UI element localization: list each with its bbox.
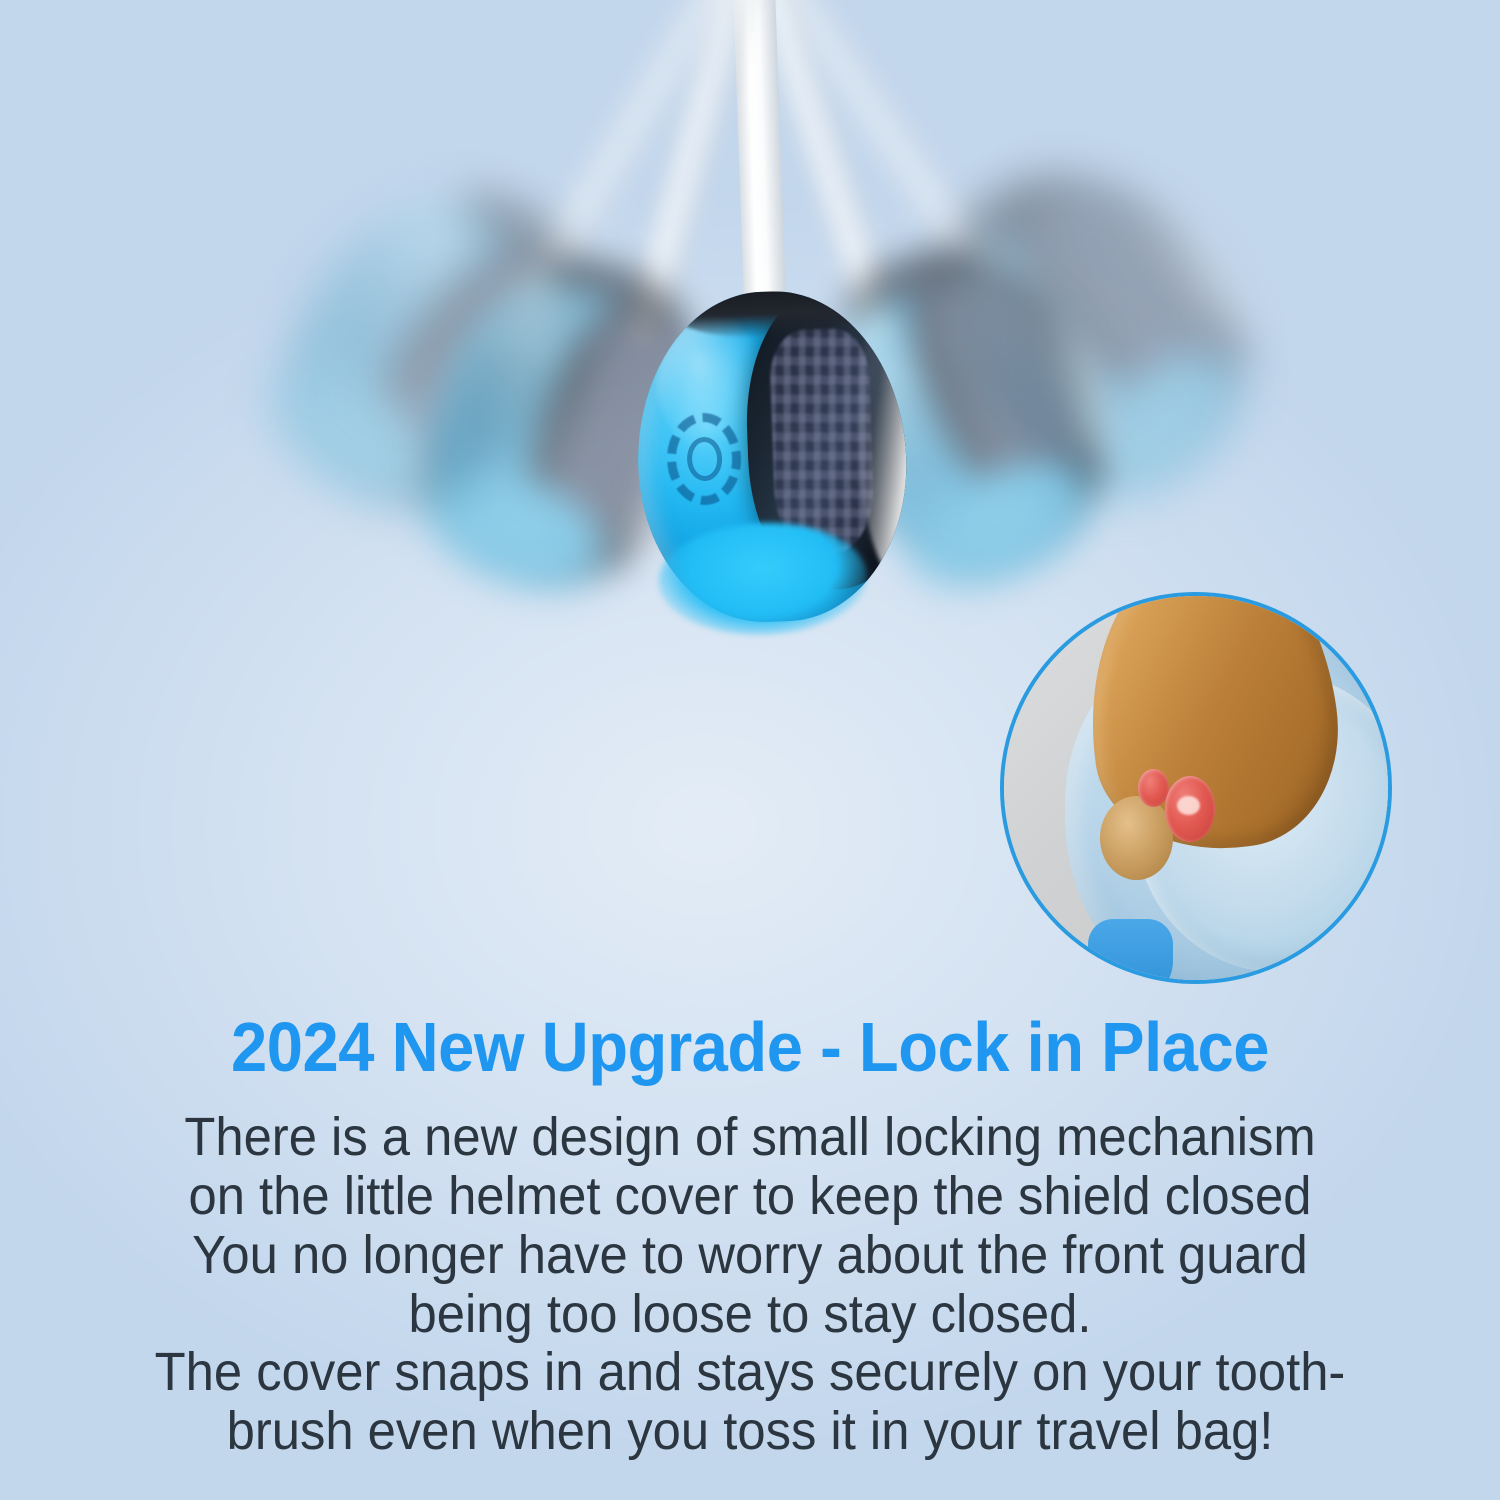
body-line: There is a new design of small locking m…	[45, 1108, 1455, 1167]
page-title: 2024 New Upgrade - Lock in Place	[53, 1012, 1448, 1082]
lock-tab-highlight	[1177, 796, 1200, 815]
body-line: on the little helmet cover to keep the s…	[45, 1167, 1455, 1226]
body-line: You no longer have to worry about the fr…	[45, 1226, 1455, 1285]
product-poster: 2024 New Upgrade - Lock in Place There i…	[0, 0, 1500, 1500]
inset-brush-neck-tip	[1100, 796, 1173, 880]
inset-cover-foot	[1088, 919, 1172, 984]
locking-mechanism-closeup	[1000, 592, 1392, 984]
body-line: brush even when you toss it in your trav…	[45, 1402, 1455, 1461]
vent-holes-icon	[666, 412, 743, 507]
body-copy: There is a new design of small locking m…	[45, 1108, 1455, 1461]
body-line: being too loose to stay closed.	[45, 1285, 1455, 1344]
body-line: The cover snaps in and stays securely on…	[45, 1343, 1455, 1402]
